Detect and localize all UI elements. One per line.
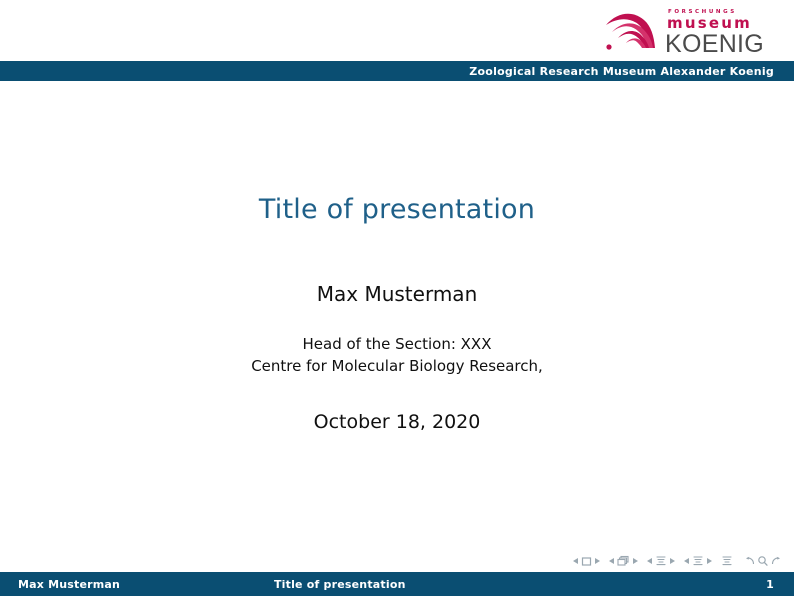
museum-koenig-logo: FORSCHUNGS museum KOENIG	[604, 8, 776, 58]
section-icon[interactable]	[692, 555, 704, 567]
subsection-icon[interactable]	[655, 555, 667, 567]
slide-icon[interactable]	[581, 556, 592, 567]
logo-wordmark: FORSCHUNGS museum KOENIG	[666, 8, 778, 56]
slide-navigation-group[interactable]	[573, 556, 600, 567]
next-slide-icon[interactable]	[595, 558, 600, 564]
history-navigation-group[interactable]	[744, 555, 782, 567]
slide-footer-bar: Max Musterman Title of presentation 1	[0, 572, 794, 596]
affiliation-block: Head of the Section: XXX Centre for Mole…	[0, 333, 794, 377]
search-icon[interactable]	[757, 555, 769, 567]
institution-name: Zoological Research Museum Alexander Koe…	[469, 65, 794, 78]
previous-section-icon[interactable]	[684, 558, 689, 564]
presentation-date: October 18, 2020	[0, 410, 794, 435]
previous-subsection-icon[interactable]	[647, 558, 652, 564]
back-arrow-icon[interactable]	[744, 555, 756, 567]
next-subsection-icon[interactable]	[670, 558, 675, 564]
previous-slide-icon[interactable]	[573, 558, 578, 564]
frame-icon[interactable]	[617, 555, 630, 567]
next-frame-icon[interactable]	[633, 558, 638, 564]
affiliation-line-2: Centre for Molecular Biology Research,	[0, 355, 794, 377]
footer-title: Title of presentation	[270, 578, 651, 591]
previous-frame-icon[interactable]	[609, 558, 614, 564]
beamer-navigation-symbols[interactable]	[573, 552, 782, 570]
forward-arrow-icon[interactable]	[770, 555, 782, 567]
institution-header-bar: Zoological Research Museum Alexander Koe…	[0, 61, 794, 81]
title-page-content: Title of presentation Max Musterman Head…	[0, 81, 794, 551]
footer-author: Max Musterman	[0, 578, 270, 591]
document-icon[interactable]	[721, 555, 733, 567]
page-title: Title of presentation	[0, 193, 794, 227]
section-navigation-group[interactable]	[684, 555, 712, 567]
logo-koenig-text: KOENIG	[665, 31, 778, 57]
footer-page-number: 1	[651, 578, 794, 591]
author-name: Max Musterman	[0, 281, 794, 307]
subsection-navigation-group[interactable]	[647, 555, 675, 567]
next-section-icon[interactable]	[707, 558, 712, 564]
affiliation-line-1: Head of the Section: XXX	[0, 333, 794, 355]
logo-museum-text: museum	[667, 16, 778, 31]
frame-navigation-group[interactable]	[609, 555, 638, 567]
presentation-slide: FORSCHUNGS museum KOENIG Zoological Rese…	[0, 0, 794, 596]
